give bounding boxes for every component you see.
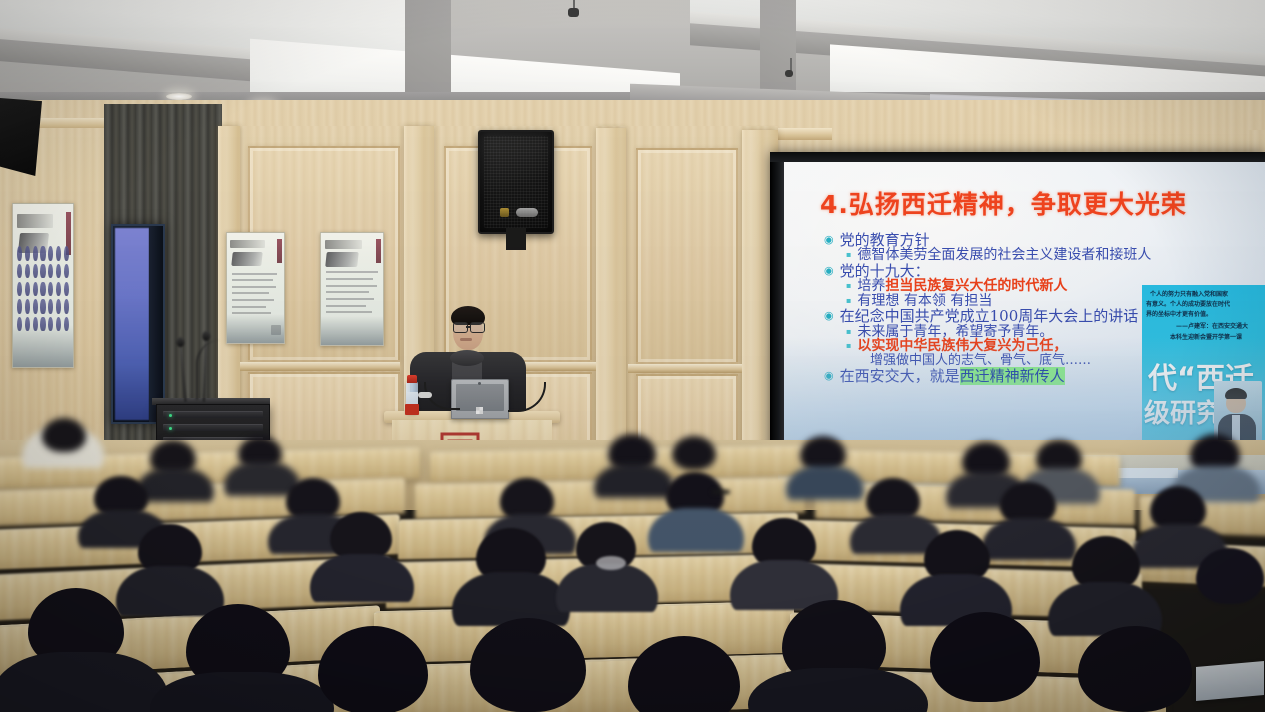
- bullet-marker-icon: ◉: [824, 265, 834, 276]
- audience-glasses: [712, 490, 730, 494]
- podium-mic-head-left: [418, 392, 432, 398]
- poster-left-wall: [12, 203, 74, 368]
- audience-person: [116, 566, 224, 616]
- bullet-marker-icon: ◉: [824, 370, 834, 381]
- audience-person: [594, 464, 674, 498]
- audience-person: [982, 518, 1076, 560]
- presenter-collar: [450, 350, 484, 366]
- inset-headline-2: 级研究: [1144, 393, 1222, 430]
- wall-shelf-3: [628, 364, 742, 373]
- corner-speaker: [0, 98, 42, 176]
- sub-bullet-marker-icon: ▪: [846, 328, 851, 336]
- bottle-cap: [407, 375, 417, 383]
- audience-head-foreground: [930, 612, 1040, 702]
- screen-top-bezel: [770, 152, 1265, 162]
- confidence-monitor: [111, 224, 165, 424]
- audience-person: [310, 554, 414, 602]
- slide-bullet-3: ◉ 党的十九大：: [824, 263, 1244, 279]
- lecture-hall-photo: 4.弘扬西迁精神，争取更大光荣 ◉ 党的教育方针 ▪ 德智体美劳全面发展的社会主…: [0, 0, 1265, 712]
- audience-laptop[interactable]: [1196, 661, 1264, 701]
- sub-bullet-marker-icon: ▪: [846, 251, 851, 259]
- audience-head: [1196, 548, 1264, 604]
- sub-bullet-marker-icon: ▪: [846, 297, 851, 305]
- audience-person: [786, 466, 864, 500]
- speaker-bracket: [506, 228, 526, 250]
- audience-person: [556, 564, 658, 612]
- inset-quote-line-1: 个人的努力只有融入党和国家: [1150, 291, 1262, 299]
- audience-person: [648, 508, 744, 552]
- bottle-base: [405, 404, 419, 415]
- screen-left-bezel: [770, 152, 784, 472]
- bullet-marker-icon: ◉: [824, 234, 834, 245]
- sub-bullet-marker-icon: ▪: [846, 282, 851, 290]
- wall-shelf-1: [240, 362, 400, 371]
- inset-attribution: ——卢建军：在西安交通大: [1176, 323, 1265, 331]
- slide-inset-image: 个人的努力只有融入党和国家 有意义。个人的成功要放在时代 界的坐标中才更有价值。…: [1142, 285, 1265, 460]
- slide-bullet-2: ▪ 德智体美劳全面发展的社会主义建设者和接班人: [824, 248, 1244, 263]
- wall-speaker: [478, 130, 554, 234]
- audience-head-foreground: [1078, 626, 1192, 712]
- inset-quote-line-2: 有意义。个人的成功要放在时代: [1146, 301, 1264, 309]
- slide-bullet-1: ◉ 党的教育方针: [824, 232, 1244, 248]
- inset-attribution-2: 本科生迎新会暨开学第一课: [1170, 334, 1265, 342]
- audience-head: [42, 418, 86, 452]
- bullet-marker-icon: ◉: [824, 310, 834, 321]
- audience-head: [672, 436, 716, 470]
- gooseneck-mic: [196, 340, 220, 400]
- poster-center-b: [320, 232, 384, 346]
- presenter-glasses: [453, 322, 485, 332]
- wall-pilaster-3: [596, 128, 626, 456]
- poster-center-a: [226, 232, 285, 344]
- audience-person: [452, 572, 570, 626]
- rear-device-right: [1118, 468, 1178, 478]
- audience-head-foreground: [470, 618, 586, 712]
- inset-quote-line-3: 界的坐标中才更有价值。: [1146, 311, 1264, 319]
- audience-mask: [596, 556, 626, 570]
- sub-bullet-marker-icon: ▪: [846, 342, 851, 350]
- projection-screen[interactable]: 4.弘扬西迁精神，争取更大光荣 ◉ 党的教育方针 ▪ 德智体美劳全面发展的社会主…: [782, 160, 1265, 465]
- slide-title: 4.弘扬西迁精神，争取更大光荣: [820, 185, 1187, 221]
- wall-panel-3: [636, 148, 738, 364]
- presenter-mouth: [460, 338, 472, 341]
